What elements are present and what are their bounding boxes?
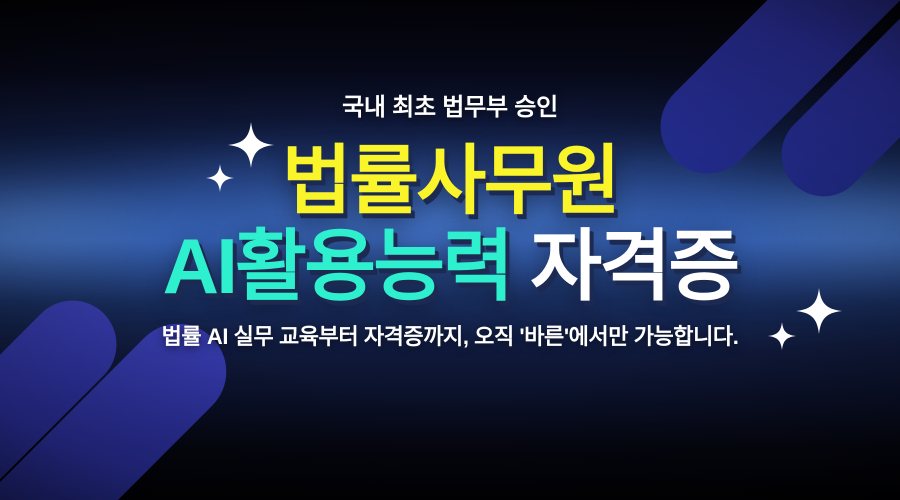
banner-content: 국내 최초 법무부 승인 법률사무원 AI활용능력 자격증 법률 AI 실무 교…: [0, 0, 900, 500]
headline-accent-ai: AI활용능력: [163, 222, 512, 310]
banner-subcopy: 법률 AI 실무 교육부터 자격증까지, 오직 '바른'에서만 가능합니다.: [162, 326, 739, 348]
promo-banner: 국내 최초 법무부 승인 법률사무원 AI활용능력 자격증 법률 AI 실무 교…: [0, 0, 900, 500]
banner-headline: 법률사무원 AI활용능력 자격증: [163, 146, 738, 304]
headline-certificate: 자격증: [530, 222, 737, 310]
banner-eyebrow: 국내 최초 법무부 승인: [342, 96, 558, 120]
headline-line-2: AI활용능력 자격증: [163, 229, 738, 304]
headline-line-1: 법률사무원: [163, 146, 738, 219]
